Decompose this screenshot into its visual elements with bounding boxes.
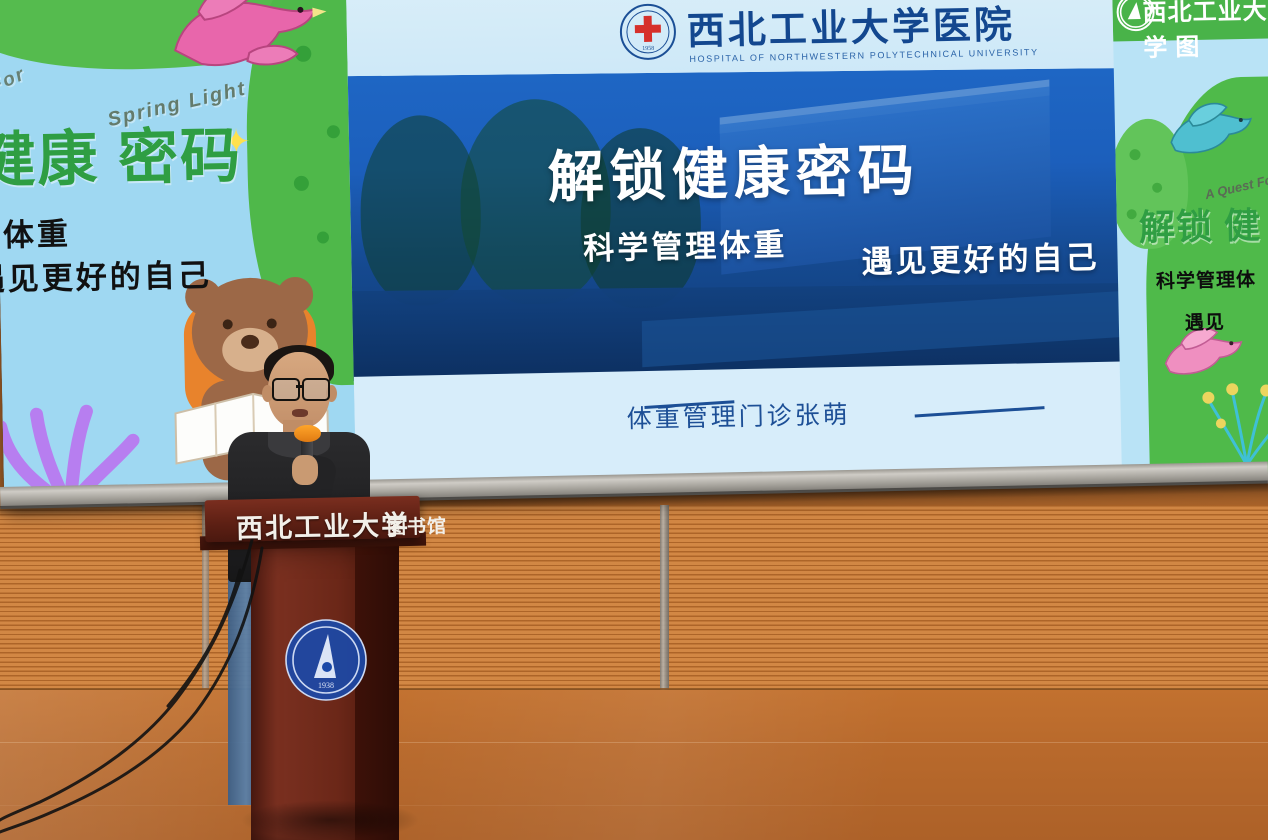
led-display-screen: For Spring Light ✦ 健康 密码 理体重 遇见更好的自己 (0, 0, 1268, 508)
screen-content: For Spring Light ✦ 健康 密码 理体重 遇见更好的自己 (0, 0, 1268, 498)
purple-plant-icon (0, 384, 144, 498)
presentation-slide: 1958 西北工业大学医院 HOSPITAL OF NORTHWESTERN P… (346, 0, 1124, 491)
speaker-mouth (292, 409, 308, 417)
auditorium-photo: For Spring Light ✦ 健康 密码 理体重 遇见更好的自己 (0, 0, 1268, 840)
poster-left-line1: 理体重 (0, 209, 71, 256)
poster-left-script-for: For (0, 63, 29, 98)
slide-title: 解锁健康密码 (349, 121, 1118, 217)
podium-label-sub: 图书馆 (387, 511, 448, 539)
poster-right: 西北工业大学 图 (1112, 0, 1268, 475)
slide-subtitle-left: 科学管理体重 (583, 219, 788, 268)
blue-bird-icon (1162, 97, 1253, 169)
poster-right-line2: 遇见 (1185, 307, 1226, 335)
eyeglasses-bridge (296, 385, 304, 388)
poster-right-plants-icon (1190, 356, 1268, 468)
eyeglasses-icon (302, 378, 330, 401)
microphone-windscreen (294, 425, 321, 442)
poster-right-header-text: 西北工业大学 图 (1142, 0, 1268, 63)
floor-cables (0, 540, 400, 840)
hospital-seal-icon: 1958 (618, 2, 677, 61)
slide-subtitle-right: 遇见更好的自己 (861, 232, 1100, 282)
slide-hospital-name: 西北工业大学医院 (686, 0, 1015, 55)
poster-left-line2: 遇见更好的自己 (0, 250, 212, 300)
poster-left-title: 健康 密码 (0, 107, 243, 199)
svg-text:1958: 1958 (642, 46, 654, 52)
poster-right-title: 解锁 健 (1138, 197, 1261, 251)
speaker-hand (292, 455, 318, 485)
eyeglasses-icon (272, 378, 300, 401)
poster-right-line1: 科学管理体 (1156, 265, 1257, 294)
